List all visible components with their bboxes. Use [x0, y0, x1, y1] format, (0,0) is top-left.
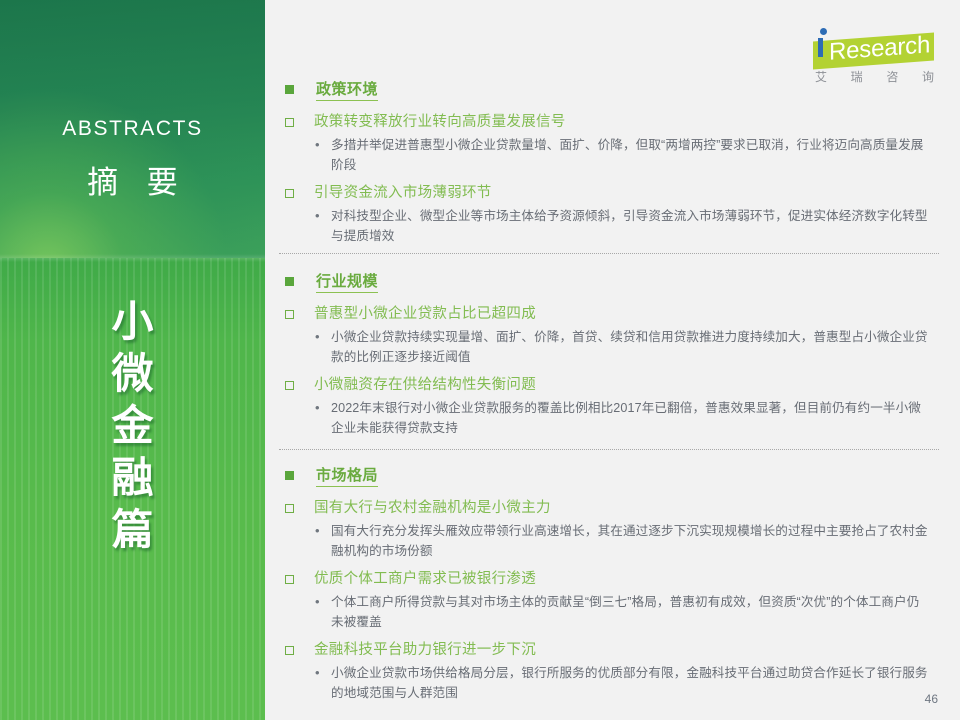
- section-divider: [279, 449, 939, 450]
- subsection: 优质个体工商户需求已被银行渗透 • 个体工商户所得贷款与其对市场主体的贡献呈“倒…: [285, 570, 940, 632]
- page-number: 46: [925, 692, 938, 706]
- hollow-square-bullet-icon: [285, 118, 294, 127]
- slide-root: ABSTRACTS 摘 要 小 微 金 融 篇 Research 艾 瑞 咨 询: [0, 0, 960, 720]
- section-heading: 市场格局: [285, 464, 940, 487]
- subsection-heading-label: 普惠型小微企业贷款占比已超四成: [314, 305, 536, 323]
- detail-item: • 国有大行充分发挥头雁效应带领行业高速增长，其在通过逐步下沉实现规模增长的过程…: [315, 521, 940, 561]
- section-block-industry-scale: 行业规模 普惠型小微企业贷款占比已超四成 • 小微企业贷款持续实现量增、面扩、价…: [285, 270, 940, 447]
- detail-item: • 对科技型企业、微型企业等市场主体给予资源倾斜，引导资金流入市场薄弱环节，促进…: [315, 206, 940, 246]
- subsection-heading: 引导资金流入市场薄弱环节: [285, 184, 940, 202]
- chapter-char: 篇: [0, 504, 265, 556]
- detail-text: 2022年末银行对小微企业贷款服务的覆盖比例相比2017年已翻倍，普惠效果显著，…: [331, 398, 928, 438]
- subsection-heading-label: 金融科技平台助力银行进一步下沉: [314, 641, 536, 659]
- chapter-char: 金: [0, 400, 265, 452]
- section-block-market-landscape: 市场格局 国有大行与农村金融机构是小微主力 • 国有大行充分发挥头雁效应带领行业…: [285, 464, 940, 712]
- dot-bullet-icon: •: [315, 398, 325, 418]
- hollow-square-bullet-icon: [285, 189, 294, 198]
- hollow-square-bullet-icon: [285, 504, 294, 513]
- filled-square-bullet-icon: [285, 277, 294, 286]
- filled-square-bullet-icon: [285, 85, 294, 94]
- detail-item: • 小微企业贷款持续实现量增、面扩、价降，首贷、续贷和信用贷款推进力度持续加大，…: [315, 327, 940, 367]
- subsection-heading: 优质个体工商户需求已被银行渗透: [285, 570, 940, 588]
- hollow-square-bullet-icon: [285, 646, 294, 655]
- detail-text: 国有大行充分发挥头雁效应带领行业高速增长，其在通过逐步下沉实现规模增长的过程中主…: [331, 521, 928, 561]
- hollow-square-bullet-icon: [285, 381, 294, 390]
- detail-item: • 个体工商户所得贷款与其对市场主体的贡献呈“倒三七”格局，普惠初有成效，但资质…: [315, 592, 940, 632]
- main-content: Research 艾 瑞 咨 询 政策环境 政策转变释放行业转向高质量发展信号: [265, 0, 960, 720]
- abstracts-chinese-title: 摘 要: [0, 157, 265, 202]
- subsection-heading-label: 国有大行与农村金融机构是小微主力: [314, 499, 551, 517]
- subsection-heading: 政策转变释放行业转向高质量发展信号: [285, 113, 940, 131]
- subsection-heading: 小微融资存在供给结构性失衡问题: [285, 376, 940, 394]
- section-heading: 行业规模: [285, 270, 940, 293]
- section-block-policy-environment: 政策环境 政策转变释放行业转向高质量发展信号 • 多措并举促进普惠型小微企业贷款…: [285, 78, 940, 255]
- logo-i-stem-icon: [818, 38, 823, 57]
- section-heading-label: 政策环境: [316, 78, 378, 101]
- chapter-char: 小: [0, 296, 265, 348]
- iresearch-logo: Research 艾 瑞 咨 询: [809, 18, 934, 86]
- dot-bullet-icon: •: [315, 592, 325, 612]
- dot-bullet-icon: •: [315, 521, 325, 541]
- section-heading-label: 行业规模: [316, 270, 378, 293]
- sidebar: ABSTRACTS 摘 要 小 微 金 融 篇: [0, 0, 265, 720]
- dot-bullet-icon: •: [315, 663, 325, 683]
- subsection: 金融科技平台助力银行进一步下沉 • 小微企业贷款市场供给格局分层，银行所服务的优…: [285, 641, 940, 703]
- detail-item: • 2022年末银行对小微企业贷款服务的覆盖比例相比2017年已翻倍，普惠效果显…: [315, 398, 940, 438]
- detail-text: 小微企业贷款市场供给格局分层，银行所服务的优质部分有限，金融科技平台通过助贷合作…: [331, 663, 928, 703]
- subsection: 国有大行与农村金融机构是小微主力 • 国有大行充分发挥头雁效应带领行业高速增长，…: [285, 499, 940, 561]
- sidebar-seam-divider: [0, 254, 265, 262]
- hollow-square-bullet-icon: [285, 575, 294, 584]
- subsection: 政策转变释放行业转向高质量发展信号 • 多措并举促进普惠型小微企业贷款量增、面扩…: [285, 113, 940, 175]
- subsection: 引导资金流入市场薄弱环节 • 对科技型企业、微型企业等市场主体给予资源倾斜，引导…: [285, 184, 940, 246]
- section-heading-label: 市场格局: [316, 464, 378, 487]
- section-heading: 政策环境: [285, 78, 940, 101]
- subsection-heading: 金融科技平台助力银行进一步下沉: [285, 641, 940, 659]
- detail-text: 多措并举促进普惠型小微企业贷款量增、面扩、价降，但取“两增两控”要求已取消，行业…: [331, 135, 928, 175]
- subsection-heading-label: 政策转变释放行业转向高质量发展信号: [314, 113, 566, 131]
- dot-bullet-icon: •: [315, 135, 325, 155]
- dot-bullet-icon: •: [315, 327, 325, 347]
- detail-item: • 小微企业贷款市场供给格局分层，银行所服务的优质部分有限，金融科技平台通过助贷…: [315, 663, 940, 703]
- subsection: 普惠型小微企业贷款占比已超四成 • 小微企业贷款持续实现量增、面扩、价降，首贷、…: [285, 305, 940, 367]
- detail-item: • 多措并举促进普惠型小微企业贷款量增、面扩、价降，但取“两增两控”要求已取消，…: [315, 135, 940, 175]
- subsection: 小微融资存在供给结构性失衡问题 • 2022年末银行对小微企业贷款服务的覆盖比例…: [285, 376, 940, 438]
- abstracts-english-title: ABSTRACTS: [0, 117, 265, 141]
- detail-text: 小微企业贷款持续实现量增、面扩、价降，首贷、续贷和信用贷款推进力度持续加大，普惠…: [331, 327, 928, 367]
- chapter-char: 微: [0, 348, 265, 400]
- hollow-square-bullet-icon: [285, 310, 294, 319]
- subsection-heading: 普惠型小微企业贷款占比已超四成: [285, 305, 940, 323]
- subsection-heading: 国有大行与农村金融机构是小微主力: [285, 499, 940, 517]
- subsection-heading-label: 小微融资存在供给结构性失衡问题: [314, 376, 536, 394]
- detail-text: 个体工商户所得贷款与其对市场主体的贡献呈“倒三七”格局，普惠初有成效，但资质“次…: [331, 592, 928, 632]
- chapter-vertical-title: 小 微 金 融 篇: [0, 296, 265, 556]
- subsection-heading-label: 引导资金流入市场薄弱环节: [314, 184, 492, 202]
- filled-square-bullet-icon: [285, 471, 294, 480]
- chapter-char: 融: [0, 452, 265, 504]
- logo-dot-icon: [820, 28, 827, 35]
- subsection-heading-label: 优质个体工商户需求已被银行渗透: [314, 570, 536, 588]
- dot-bullet-icon: •: [315, 206, 325, 226]
- detail-text: 对科技型企业、微型企业等市场主体给予资源倾斜，引导资金流入市场薄弱环节，促进实体…: [331, 206, 928, 246]
